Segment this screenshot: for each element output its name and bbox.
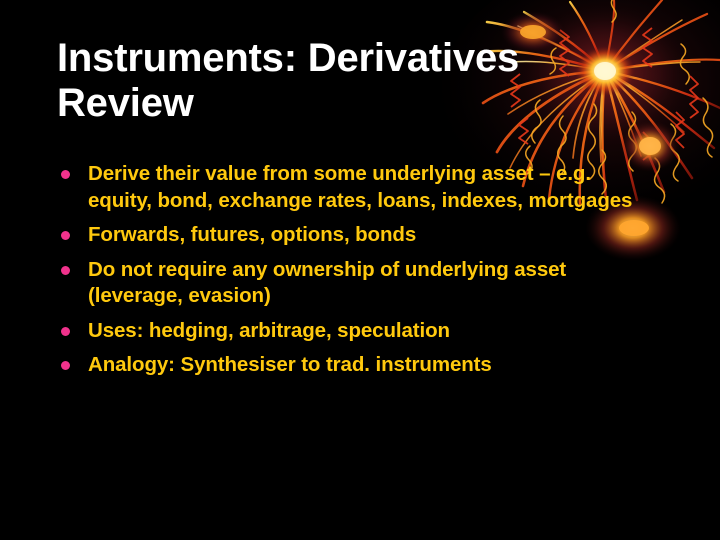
slide-canvas: Instruments: Derivatives Review Derive t… <box>0 0 720 540</box>
slide-body-content: Derive their value from some underlying … <box>56 161 656 379</box>
bullet-dot-icon <box>61 231 70 240</box>
bullet-item-4-text: Uses: hedging, arbitrage, speculation <box>88 318 656 345</box>
bullet-item-5-text: Analogy: Synthesiser to trad. instrument… <box>88 352 656 379</box>
bullet-item-1-text: Derive their value from some underlying … <box>88 161 656 214</box>
slide-title-line-2: Review <box>57 81 657 126</box>
bullet-item-1: Derive their value from some underlying … <box>56 161 656 214</box>
bullet-item-3-text: Do not require any ownership of underlyi… <box>88 257 656 310</box>
bullet-item-3: Do not require any ownership of underlyi… <box>56 257 656 310</box>
bullet-item-2: Forwards, futures, options, bonds <box>56 222 656 249</box>
slide-title-line-1: Instruments: Derivatives <box>57 36 657 81</box>
bullet-dot-icon <box>61 266 70 275</box>
bullet-dot-icon <box>61 327 70 336</box>
bullet-item-2-text: Forwards, futures, options, bonds <box>88 222 656 249</box>
bullet-item-5: Analogy: Synthesiser to trad. instrument… <box>56 352 656 379</box>
bullet-dot-icon <box>61 170 70 179</box>
bullet-dot-icon <box>61 361 70 370</box>
slide-title: Instruments: Derivatives Review <box>57 36 657 126</box>
bullet-item-4: Uses: hedging, arbitrage, speculation <box>56 318 656 345</box>
